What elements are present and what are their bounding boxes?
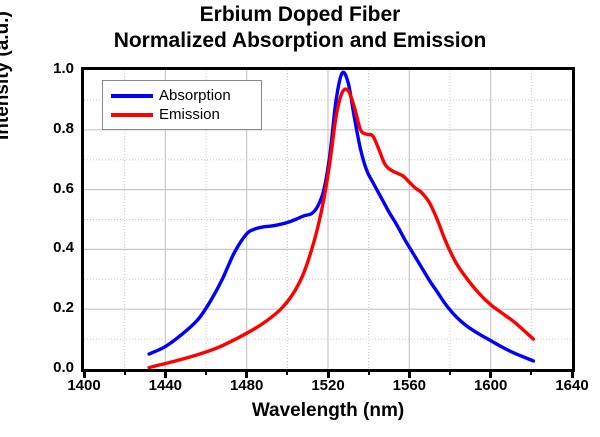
y-tick-label: 0.8 [30, 120, 74, 137]
x-tick-label: 1400 [54, 377, 114, 394]
chart-legend[interactable]: Absorption Emission [102, 80, 262, 130]
x-tick-label: 1440 [135, 377, 195, 394]
legend-swatch-emission [111, 113, 153, 117]
x-tick-label: 1640 [542, 377, 600, 394]
x-tick-label: 1600 [461, 377, 521, 394]
x-axis-label: Wavelength (nm) [81, 400, 575, 422]
chart-title: Erbium Doped Fiber Normalized Absorption… [0, 2, 600, 54]
x-tick-label: 1520 [298, 377, 358, 394]
legend-swatch-absorption [111, 94, 153, 98]
legend-item-emission[interactable]: Emission [111, 105, 253, 124]
y-tick-label: 1.0 [30, 60, 74, 77]
chart-title-line-1: Erbium Doped Fiber [0, 2, 600, 28]
y-axis-tick-labels: 0.00.20.40.60.81.0 [22, 0, 74, 437]
y-tick-label: 0.4 [30, 239, 74, 256]
x-tick-label: 1480 [217, 377, 277, 394]
legend-item-absorption[interactable]: Absorption [111, 86, 253, 105]
legend-label-emission: Emission [159, 107, 220, 123]
chart-title-line-2: Normalized Absorption and Emission [0, 28, 600, 54]
chart-figure: Erbium Doped Fiber Normalized Absorption… [0, 0, 600, 437]
y-tick-label: 0.2 [30, 299, 74, 316]
series-line-emission [149, 89, 533, 367]
y-tick-label: 0.0 [30, 359, 74, 376]
legend-label-absorption: Absorption [159, 88, 231, 104]
x-tick-label: 1560 [379, 377, 439, 394]
y-tick-label: 0.6 [30, 180, 74, 197]
y-axis-label: Intensity (a.u.) [0, 11, 14, 140]
